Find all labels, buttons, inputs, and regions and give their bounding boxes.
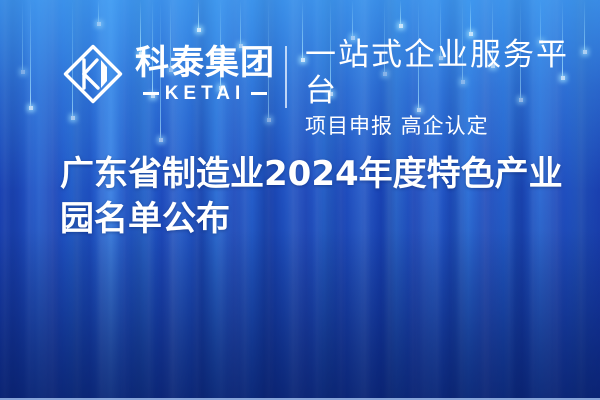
light-streak [198,0,199,30]
light-streak [352,0,353,38]
tagline-secondary: 项目申报 高企认定 [305,114,600,138]
light-streak [98,0,99,24]
brand-name-cn: 科泰集团 [135,46,275,80]
dash-right-icon [251,92,267,95]
page-title: 广东省制造业2024年度特色产业园名单公布 [60,152,580,242]
header-divider [285,46,287,108]
promo-banner: 科泰集团 KETAI 一站式企业服务平台 项目申报 高企认定 广东省制造业202… [0,0,600,400]
brand-logo[interactable]: 科泰集团 KETAI [60,41,275,107]
dash-left-icon [143,92,159,95]
brand-name-en-row: KETAI [143,84,268,103]
banner-header: 科泰集团 KETAI 一站式企业服务平台 项目申报 高企认定 [0,38,600,122]
tagline-primary: 一站式企业服务平台 [305,38,600,109]
brand-tagline: 一站式企业服务平台 项目申报 高企认定 [305,38,600,138]
light-streak [400,0,401,26]
light-streak [470,0,471,34]
bottom-shade [0,230,600,400]
light-streak [540,0,541,42]
brand-name-en: KETAI [165,84,246,103]
brand-wordmark: 科泰集团 KETAI [135,46,275,103]
ketai-diamond-monogram-icon [60,41,126,107]
